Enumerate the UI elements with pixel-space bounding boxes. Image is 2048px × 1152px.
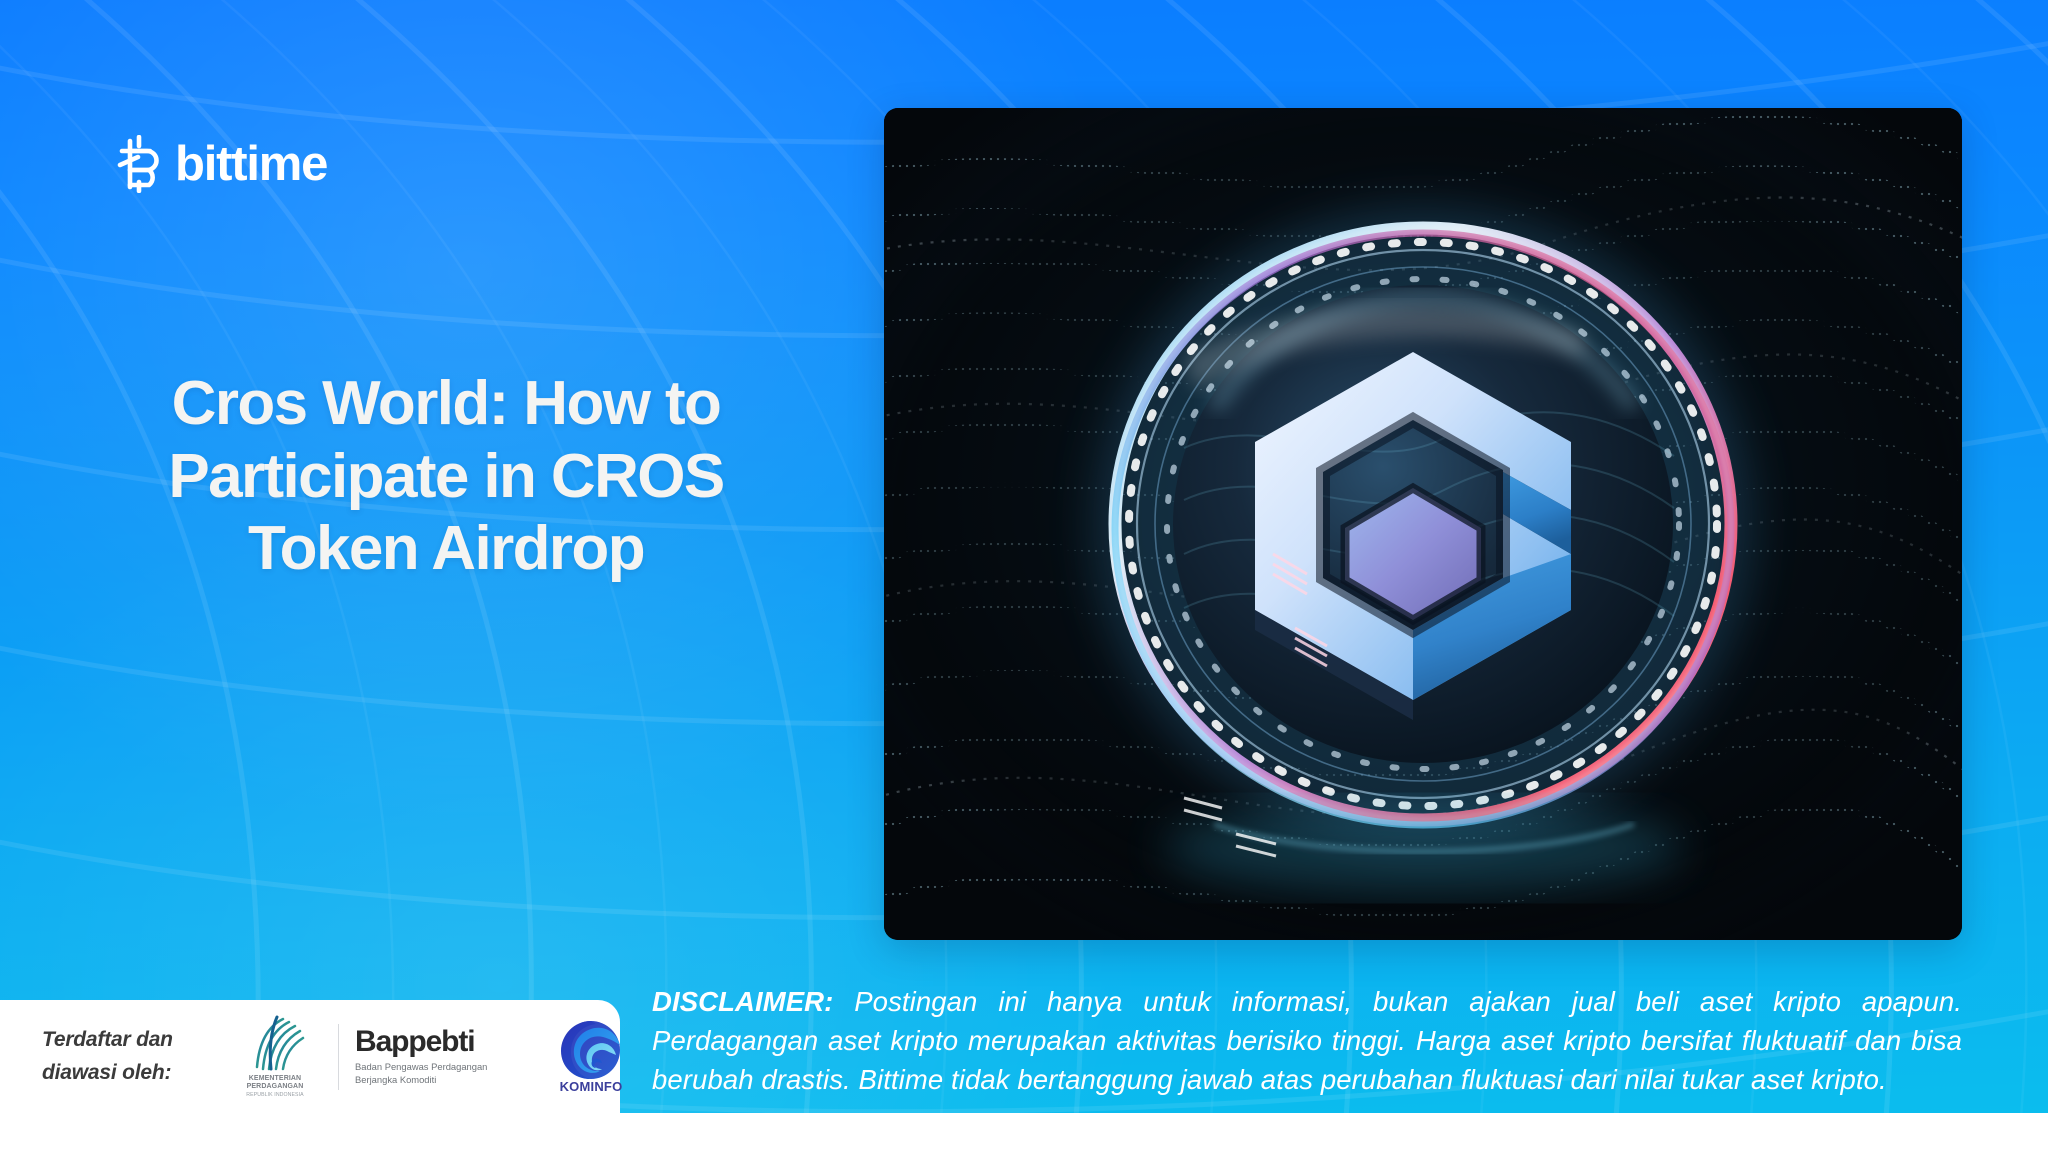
kementerian-caption: KEMENTERIAN PERDAGANGAN REPUBLIK INDONES… (246, 1075, 303, 1098)
bappebti-name: Bappebti (355, 1027, 523, 1057)
cros-token-coin-3d-image (884, 108, 1962, 940)
disclaimer-body: Postingan ini hanya untuk informasi, buk… (652, 986, 1962, 1095)
kementerian-caption-line1: KEMENTERIAN (249, 1075, 301, 1082)
bappebti-subtitle: Badan Pengawas Perdagangan Berjangka Kom… (355, 1061, 523, 1085)
bappebti-sub-line1: Badan Pengawas Perdagangan (355, 1061, 487, 1072)
regulator-badge-card: Terdaftar dan diawasi oleh: (0, 1000, 620, 1113)
kementerian-perdagangan-logo-icon (243, 1015, 307, 1073)
bittime-b-mark-icon (116, 135, 162, 193)
badge-divider (338, 1024, 339, 1090)
regulator-intro-line2: diawasi oleh: (42, 1061, 171, 1084)
bappebti-logo: Bappebti Badan Pengawas Perdagangan Berj… (355, 1027, 523, 1085)
kementerian-caption-line2: PERDAGANGAN (247, 1083, 304, 1090)
kementerian-caption-line3: REPUBLIK INDONESIA (246, 1092, 303, 1098)
disclaimer-label: DISCLAIMER: (652, 986, 833, 1017)
brand-name: bittime (175, 140, 327, 189)
regulator-intro-text: Terdaftar dan diawasi oleh: (42, 1024, 220, 1089)
regulator-intro-line1: Terdaftar dan (42, 1028, 173, 1051)
kominfo-name: KOMINFO (560, 1079, 623, 1094)
kementerian-perdagangan-logo: KEMENTERIAN PERDAGANGAN REPUBLIK INDONES… (220, 1015, 330, 1098)
disclaimer-text: DISCLAIMER: Postingan ini hanya untuk in… (652, 982, 1962, 1099)
banner-stage: bittime Cros World: How to Participate i… (0, 0, 2048, 1152)
bappebti-sub-line2: Berjangka Komoditi (355, 1074, 436, 1085)
brand-logo[interactable]: bittime (116, 134, 327, 194)
page-title: Cros World: How to Participate in CROS T… (96, 368, 796, 586)
kominfo-wave-logo-icon (558, 1019, 624, 1081)
kominfo-logo: KOMINFO (537, 1019, 645, 1094)
